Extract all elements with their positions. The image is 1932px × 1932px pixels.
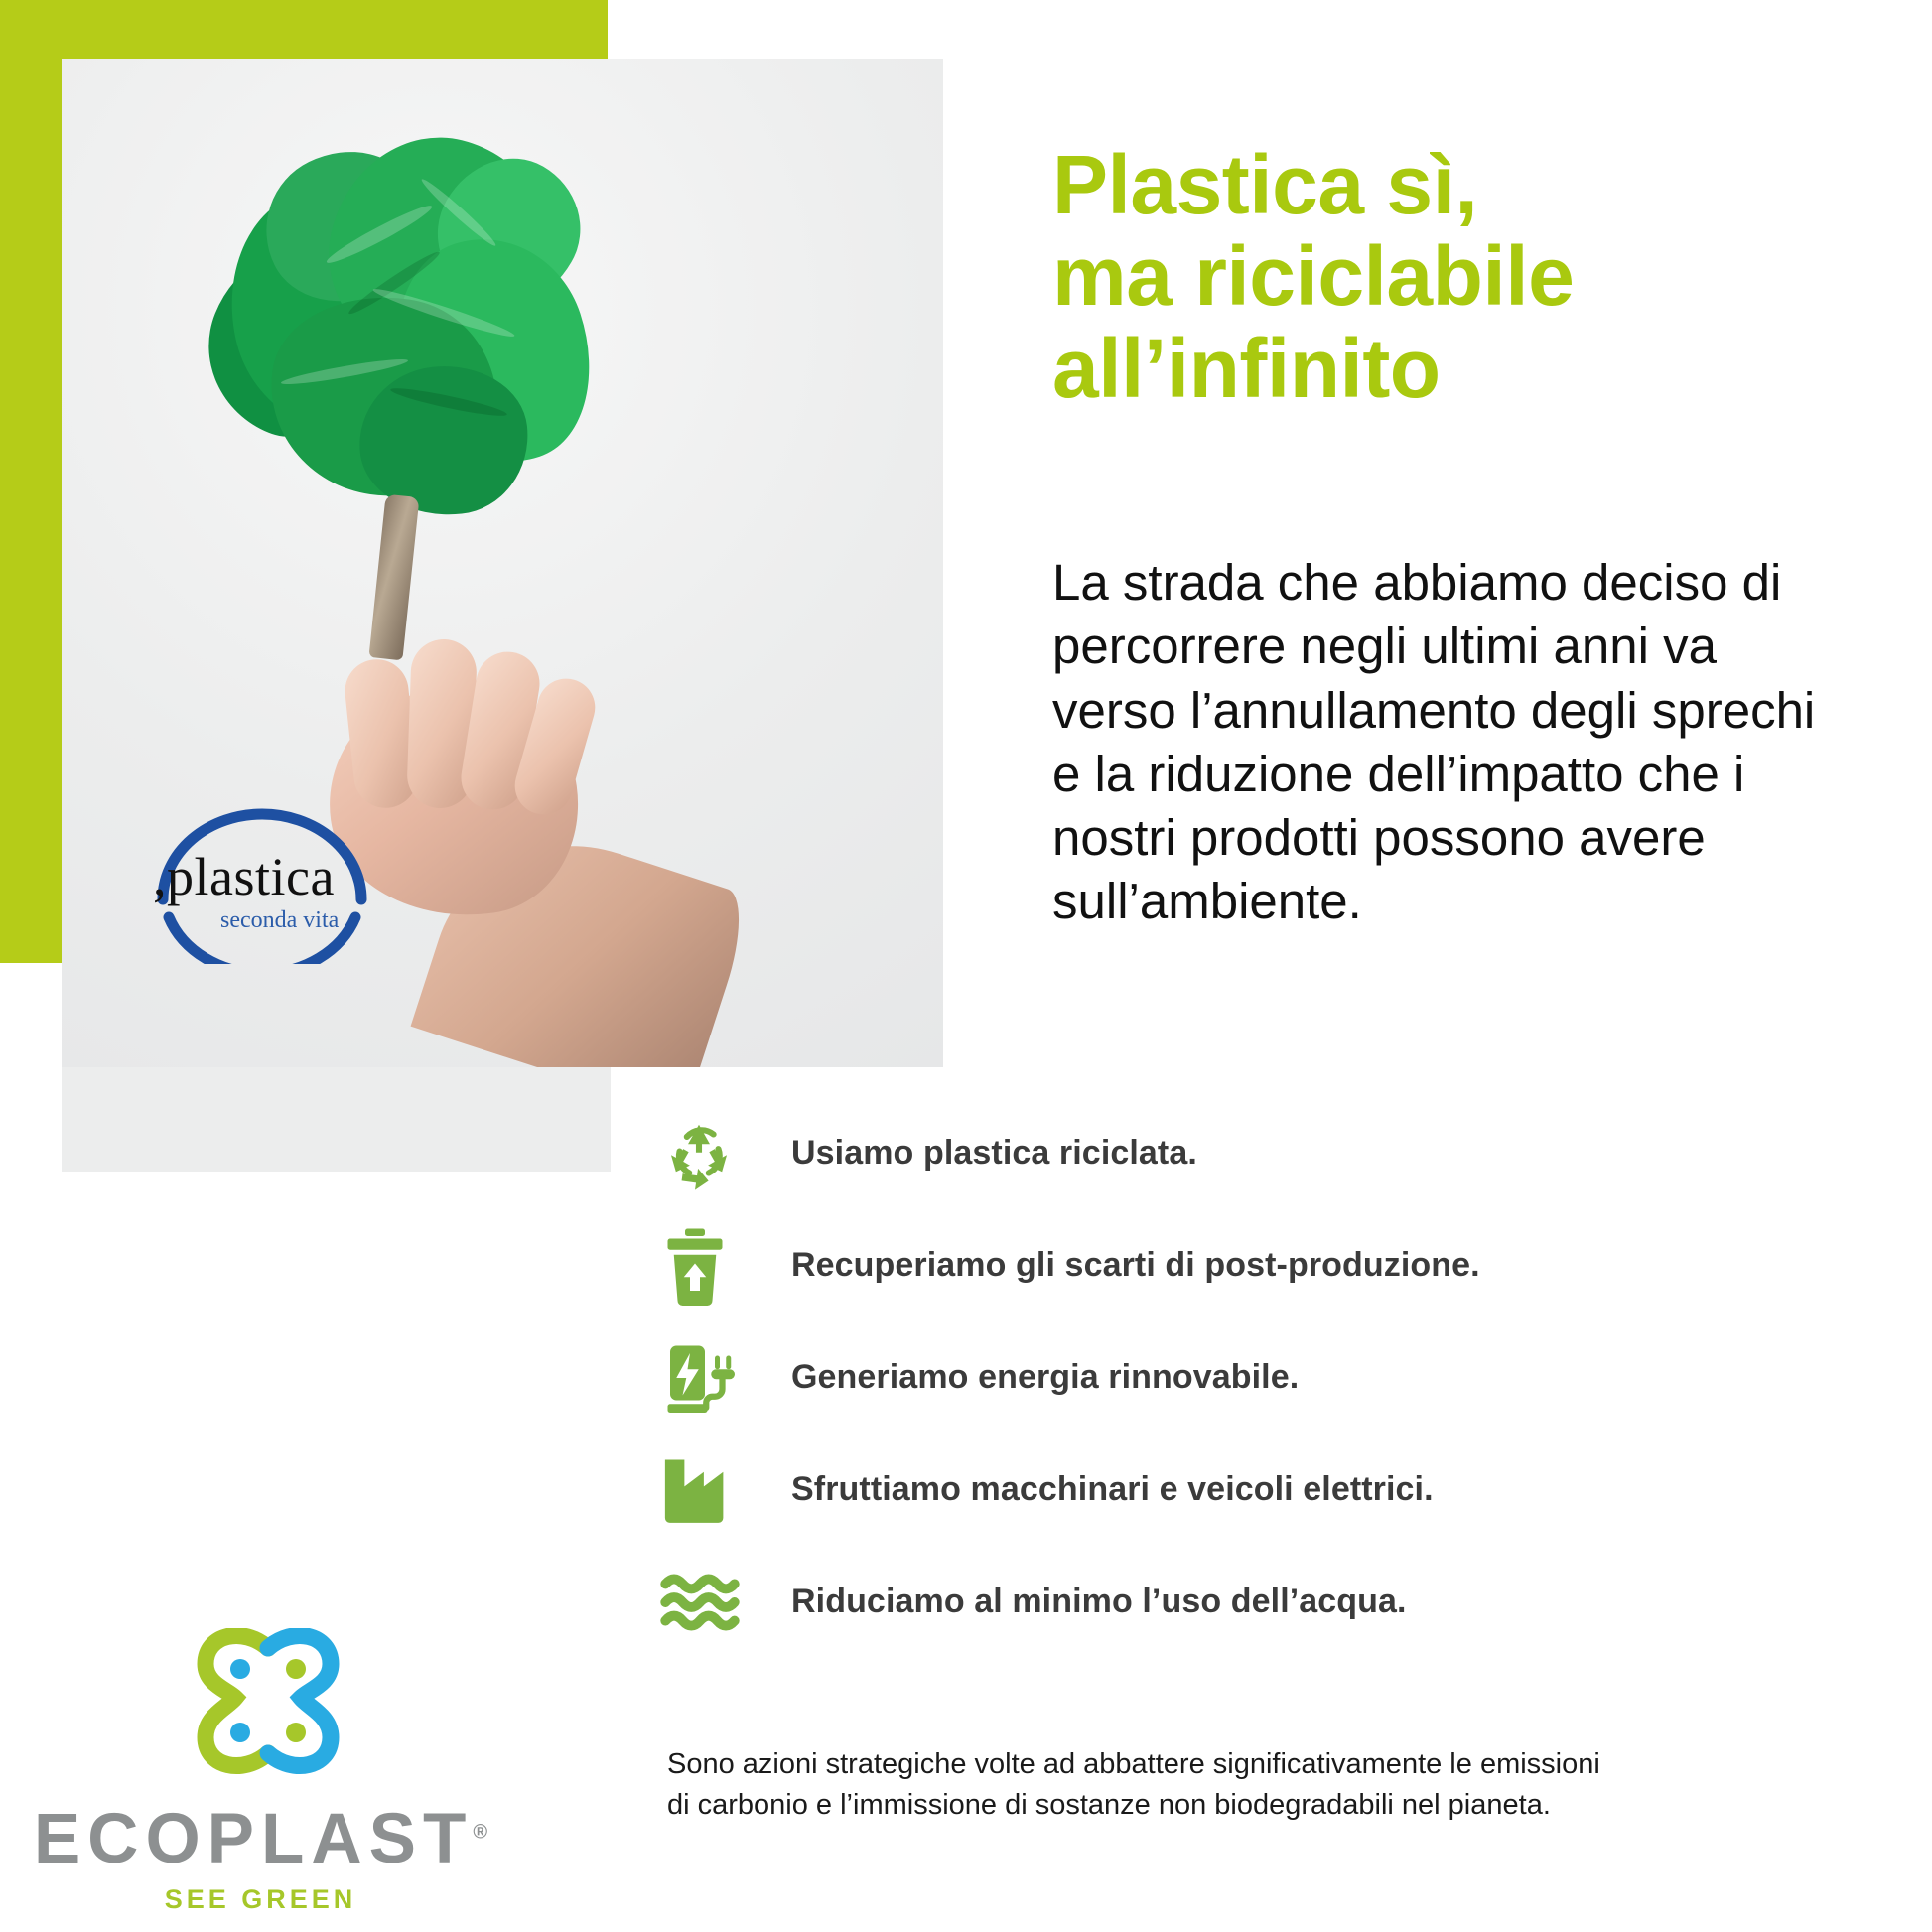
list-item: Generiamo energia rinnovabile. <box>660 1321 1871 1434</box>
list-item-label: Recuperiamo gli scarti di post-produzion… <box>791 1246 1480 1285</box>
hero-photo-upper: ,plastica seconda vita <box>62 59 943 1067</box>
headline-line-1: Plastica sì, <box>1052 139 1847 230</box>
plastica-subtitle: seconda vita <box>220 907 339 934</box>
intro-paragraph: La strada che abbiamo deciso di percorre… <box>1052 551 1837 934</box>
list-item-label: Usiamo plastica riciclata. <box>791 1134 1197 1173</box>
list-item: Recuperiamo gli scarti di post-produzion… <box>660 1209 1871 1321</box>
hero-photo: ,plastica seconda vita <box>62 59 943 1172</box>
list-item: Usiamo plastica riciclata. <box>660 1097 1871 1209</box>
ecoplast-logo: ECOPLAST® SEE GREEN <box>25 1628 496 1916</box>
trash-bin-icon <box>660 1225 752 1307</box>
list-item-label: Riduciamo al minimo l’uso dell’acqua. <box>791 1583 1407 1621</box>
poster-root: ,plastica seconda vita Plastica sì, ma r… <box>0 0 1932 1932</box>
ecoplast-tagline: SEE GREEN <box>25 1884 496 1915</box>
page-title: Plastica sì, ma riciclabile all’infinito <box>1052 139 1847 414</box>
list-item-label: Sfruttiamo macchinari e veicoli elettric… <box>791 1470 1434 1509</box>
headline-line-2: ma riciclabile <box>1052 230 1847 322</box>
headline-line-3: all’infinito <box>1052 323 1847 414</box>
ecoplast-wordmark: ECOPLAST® <box>25 1799 496 1879</box>
footnote: Sono azioni strategiche volte ad abbatte… <box>667 1744 1819 1826</box>
water-waves-icon <box>660 1562 752 1643</box>
list-item-label: Generiamo energia rinnovabile. <box>791 1358 1299 1397</box>
plastica-seconda-vita-logo: ,plastica seconda vita <box>143 751 381 964</box>
plastica-wordmark: ,plastica <box>153 846 335 907</box>
recycle-icon <box>660 1113 752 1194</box>
footnote-line-1: Sono azioni strategiche volte ad abbatte… <box>667 1744 1819 1785</box>
hero-photo-lower <box>62 1067 611 1172</box>
list-item: Sfruttiamo macchinari e veicoli elettric… <box>660 1434 1871 1546</box>
factory-icon <box>660 1449 752 1531</box>
ev-charger-icon <box>660 1337 752 1419</box>
plastic-tree-foliage <box>210 118 608 535</box>
ecoplast-wordmark-text: ECOPLAST <box>34 1800 474 1878</box>
footnote-line-2: di carbonio e l’immissione di sostanze n… <box>667 1785 1819 1826</box>
list-item: Riduciamo al minimo l’uso dell’acqua. <box>660 1546 1871 1658</box>
ecoplast-butterfly-icon <box>184 1628 352 1782</box>
registered-trademark-icon: ® <box>473 1821 487 1843</box>
actions-list: Usiamo plastica riciclata. Recuperiamo g… <box>660 1097 1871 1658</box>
